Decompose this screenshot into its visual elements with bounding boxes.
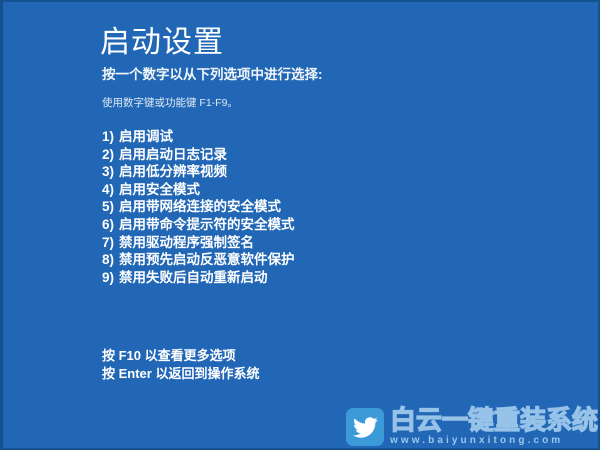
option-label: 禁用驱动程序强制签名	[119, 235, 254, 250]
option-label: 启用启动日志记录	[119, 147, 227, 162]
option-number: 4)	[102, 181, 119, 199]
option-label: 禁用失败后自动重新启动	[119, 270, 268, 285]
option-number: 5)	[102, 198, 119, 216]
list-item[interactable]: 1)启用调试	[102, 128, 295, 146]
watermark-text: 白云一键重装系统 www.baiyunxitong.com	[390, 405, 595, 447]
list-item[interactable]: 6)启用带命令提示符的安全模式	[102, 216, 295, 234]
instruction-subtitle: 按一个数字以从下列选项中进行选择:	[102, 66, 323, 84]
boot-settings-screen: 启动设置 按一个数字以从下列选项中进行选择: 使用数字键或功能键 F1-F9。 …	[3, 2, 598, 448]
list-item[interactable]: 7)禁用驱动程序强制签名	[102, 234, 295, 252]
option-number: 9)	[102, 269, 119, 287]
option-label: 启用带网络连接的安全模式	[119, 199, 281, 214]
option-number: 2)	[102, 146, 119, 164]
more-options-instruction: 按 F10 以查看更多选项	[102, 347, 259, 365]
list-item[interactable]: 9)禁用失败后自动重新启动	[102, 269, 295, 287]
option-number: 3)	[102, 163, 119, 181]
keyboard-hint: 使用数字键或功能键 F1-F9。	[102, 96, 238, 110]
watermark-brand: 白云一键重装系统	[390, 405, 595, 435]
list-item[interactable]: 2)启用启动日志记录	[102, 146, 295, 164]
page-title: 启动设置	[100, 24, 224, 62]
option-label: 启用带命令提示符的安全模式	[119, 217, 295, 232]
option-number: 1)	[102, 128, 119, 146]
option-label: 启用低分辨率视频	[119, 164, 227, 179]
bird-icon	[346, 408, 384, 446]
footer-instructions: 按 F10 以查看更多选项 按 Enter 以返回到操作系统	[102, 347, 259, 382]
list-item[interactable]: 8)禁用预先启动反恶意软件保护	[102, 251, 295, 269]
option-number: 6)	[102, 216, 119, 234]
watermark-url: www.baiyunxitong.com	[390, 434, 595, 447]
return-to-os-instruction: 按 Enter 以返回到操作系统	[102, 365, 259, 383]
option-label: 启用安全模式	[119, 182, 200, 197]
option-number: 8)	[102, 251, 119, 269]
option-number: 7)	[102, 234, 119, 252]
startup-options-list: 1)启用调试 2)启用启动日志记录 3)启用低分辨率视频 4)启用安全模式 5)…	[102, 128, 295, 286]
list-item[interactable]: 3)启用低分辨率视频	[102, 163, 295, 181]
watermark: 白云一键重装系统 www.baiyunxitong.com	[343, 405, 595, 448]
list-item[interactable]: 5)启用带网络连接的安全模式	[102, 198, 295, 216]
list-item[interactable]: 4)启用安全模式	[102, 181, 295, 199]
option-label: 禁用预先启动反恶意软件保护	[119, 252, 295, 267]
option-label: 启用调试	[119, 129, 173, 144]
